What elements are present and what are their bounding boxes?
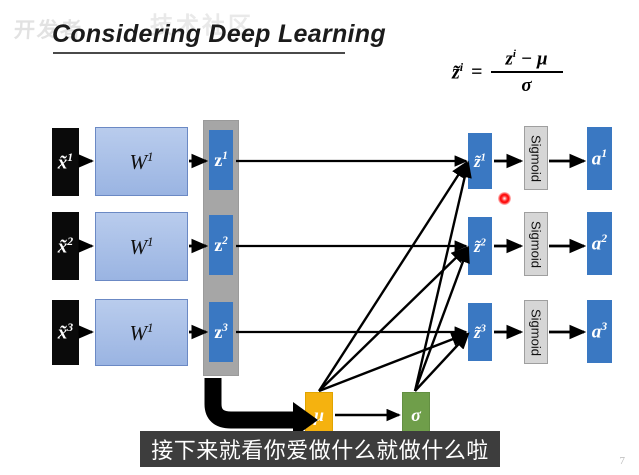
- input-box-1[interactable]: x̃1: [52, 128, 79, 196]
- slide-canvas: 开发者 技术社区 Considering Deep Learning z̃i =…: [0, 0, 639, 475]
- z-tilde-label-3: z̃3: [474, 324, 486, 341]
- laser-pointer-dot: [498, 192, 511, 205]
- sigmoid-box-1[interactable]: Sigmoid: [524, 126, 548, 190]
- input-label-3: x̃3: [58, 322, 73, 342]
- page-number: 7: [620, 455, 626, 467]
- formula-fraction: zi − μ σ: [491, 48, 563, 97]
- z-label-1: z1: [214, 151, 228, 169]
- sigmoid-label-3: Sigmoid: [529, 309, 544, 356]
- input-label-1: x̃1: [58, 152, 73, 172]
- sigmoid-box-2[interactable]: Sigmoid: [524, 212, 548, 276]
- z-tilde-label-2: z̃2: [474, 238, 486, 255]
- weight-label-1: W1: [129, 150, 153, 173]
- z-box-1[interactable]: z1: [209, 130, 233, 190]
- input-box-2[interactable]: x̃2: [52, 212, 79, 280]
- sigmoid-label-1: Sigmoid: [529, 135, 544, 182]
- activation-box-3[interactable]: a3: [587, 300, 612, 363]
- weight-label-2: W1: [129, 235, 153, 258]
- z-box-2[interactable]: z2: [209, 215, 233, 275]
- batch-to-mu-arrow: [213, 378, 318, 438]
- sigmoid-label-2: Sigmoid: [529, 221, 544, 268]
- activation-box-1[interactable]: a1: [587, 127, 612, 190]
- z-label-3: z3: [214, 323, 228, 341]
- activation-box-2[interactable]: a2: [587, 212, 612, 275]
- sigma-label: σ: [411, 406, 421, 424]
- formula-num-base: z: [506, 48, 513, 69]
- subtitle-text: 接下来就看你爱做什么就做什么啦: [151, 433, 489, 465]
- sigmoid-box-3[interactable]: Sigmoid: [524, 300, 548, 364]
- activation-label-2: a2: [592, 233, 607, 253]
- z-box-3[interactable]: z3: [209, 302, 233, 362]
- formula-equals: =: [471, 61, 482, 84]
- weight-box-1[interactable]: W1: [95, 127, 188, 196]
- formula-lhs: z̃i: [452, 60, 463, 85]
- input-box-3[interactable]: x̃3: [52, 300, 79, 365]
- page-title: Considering Deep Learning: [52, 20, 386, 49]
- formula-lhs-sup: i: [460, 60, 463, 74]
- z-tilde-box-3[interactable]: z̃3: [468, 303, 492, 361]
- z-tilde-box-1[interactable]: z̃1: [468, 133, 492, 189]
- formula-numerator: zi − μ: [502, 48, 552, 71]
- formula-lhs-base: z̃: [452, 62, 460, 84]
- subtitle-caption: 接下来就看你爱做什么就做什么啦: [140, 431, 500, 467]
- z-tilde-box-2[interactable]: z̃2: [468, 217, 492, 275]
- weight-box-3[interactable]: W1: [95, 299, 188, 366]
- weight-label-3: W1: [129, 321, 153, 344]
- mu-label: μ: [314, 406, 324, 424]
- weight-box-2[interactable]: W1: [95, 212, 188, 281]
- normalization-formula: z̃i = zi − μ σ: [452, 48, 563, 97]
- activation-label-1: a1: [592, 148, 607, 168]
- z-tilde-label-1: z̃1: [474, 153, 486, 170]
- formula-denominator: σ: [521, 73, 531, 97]
- input-label-2: x̃2: [58, 236, 73, 256]
- activation-label-3: a3: [592, 321, 607, 341]
- formula-num-tail: − μ: [516, 48, 548, 69]
- z-label-2: z2: [214, 236, 228, 254]
- title-underline: [53, 52, 345, 54]
